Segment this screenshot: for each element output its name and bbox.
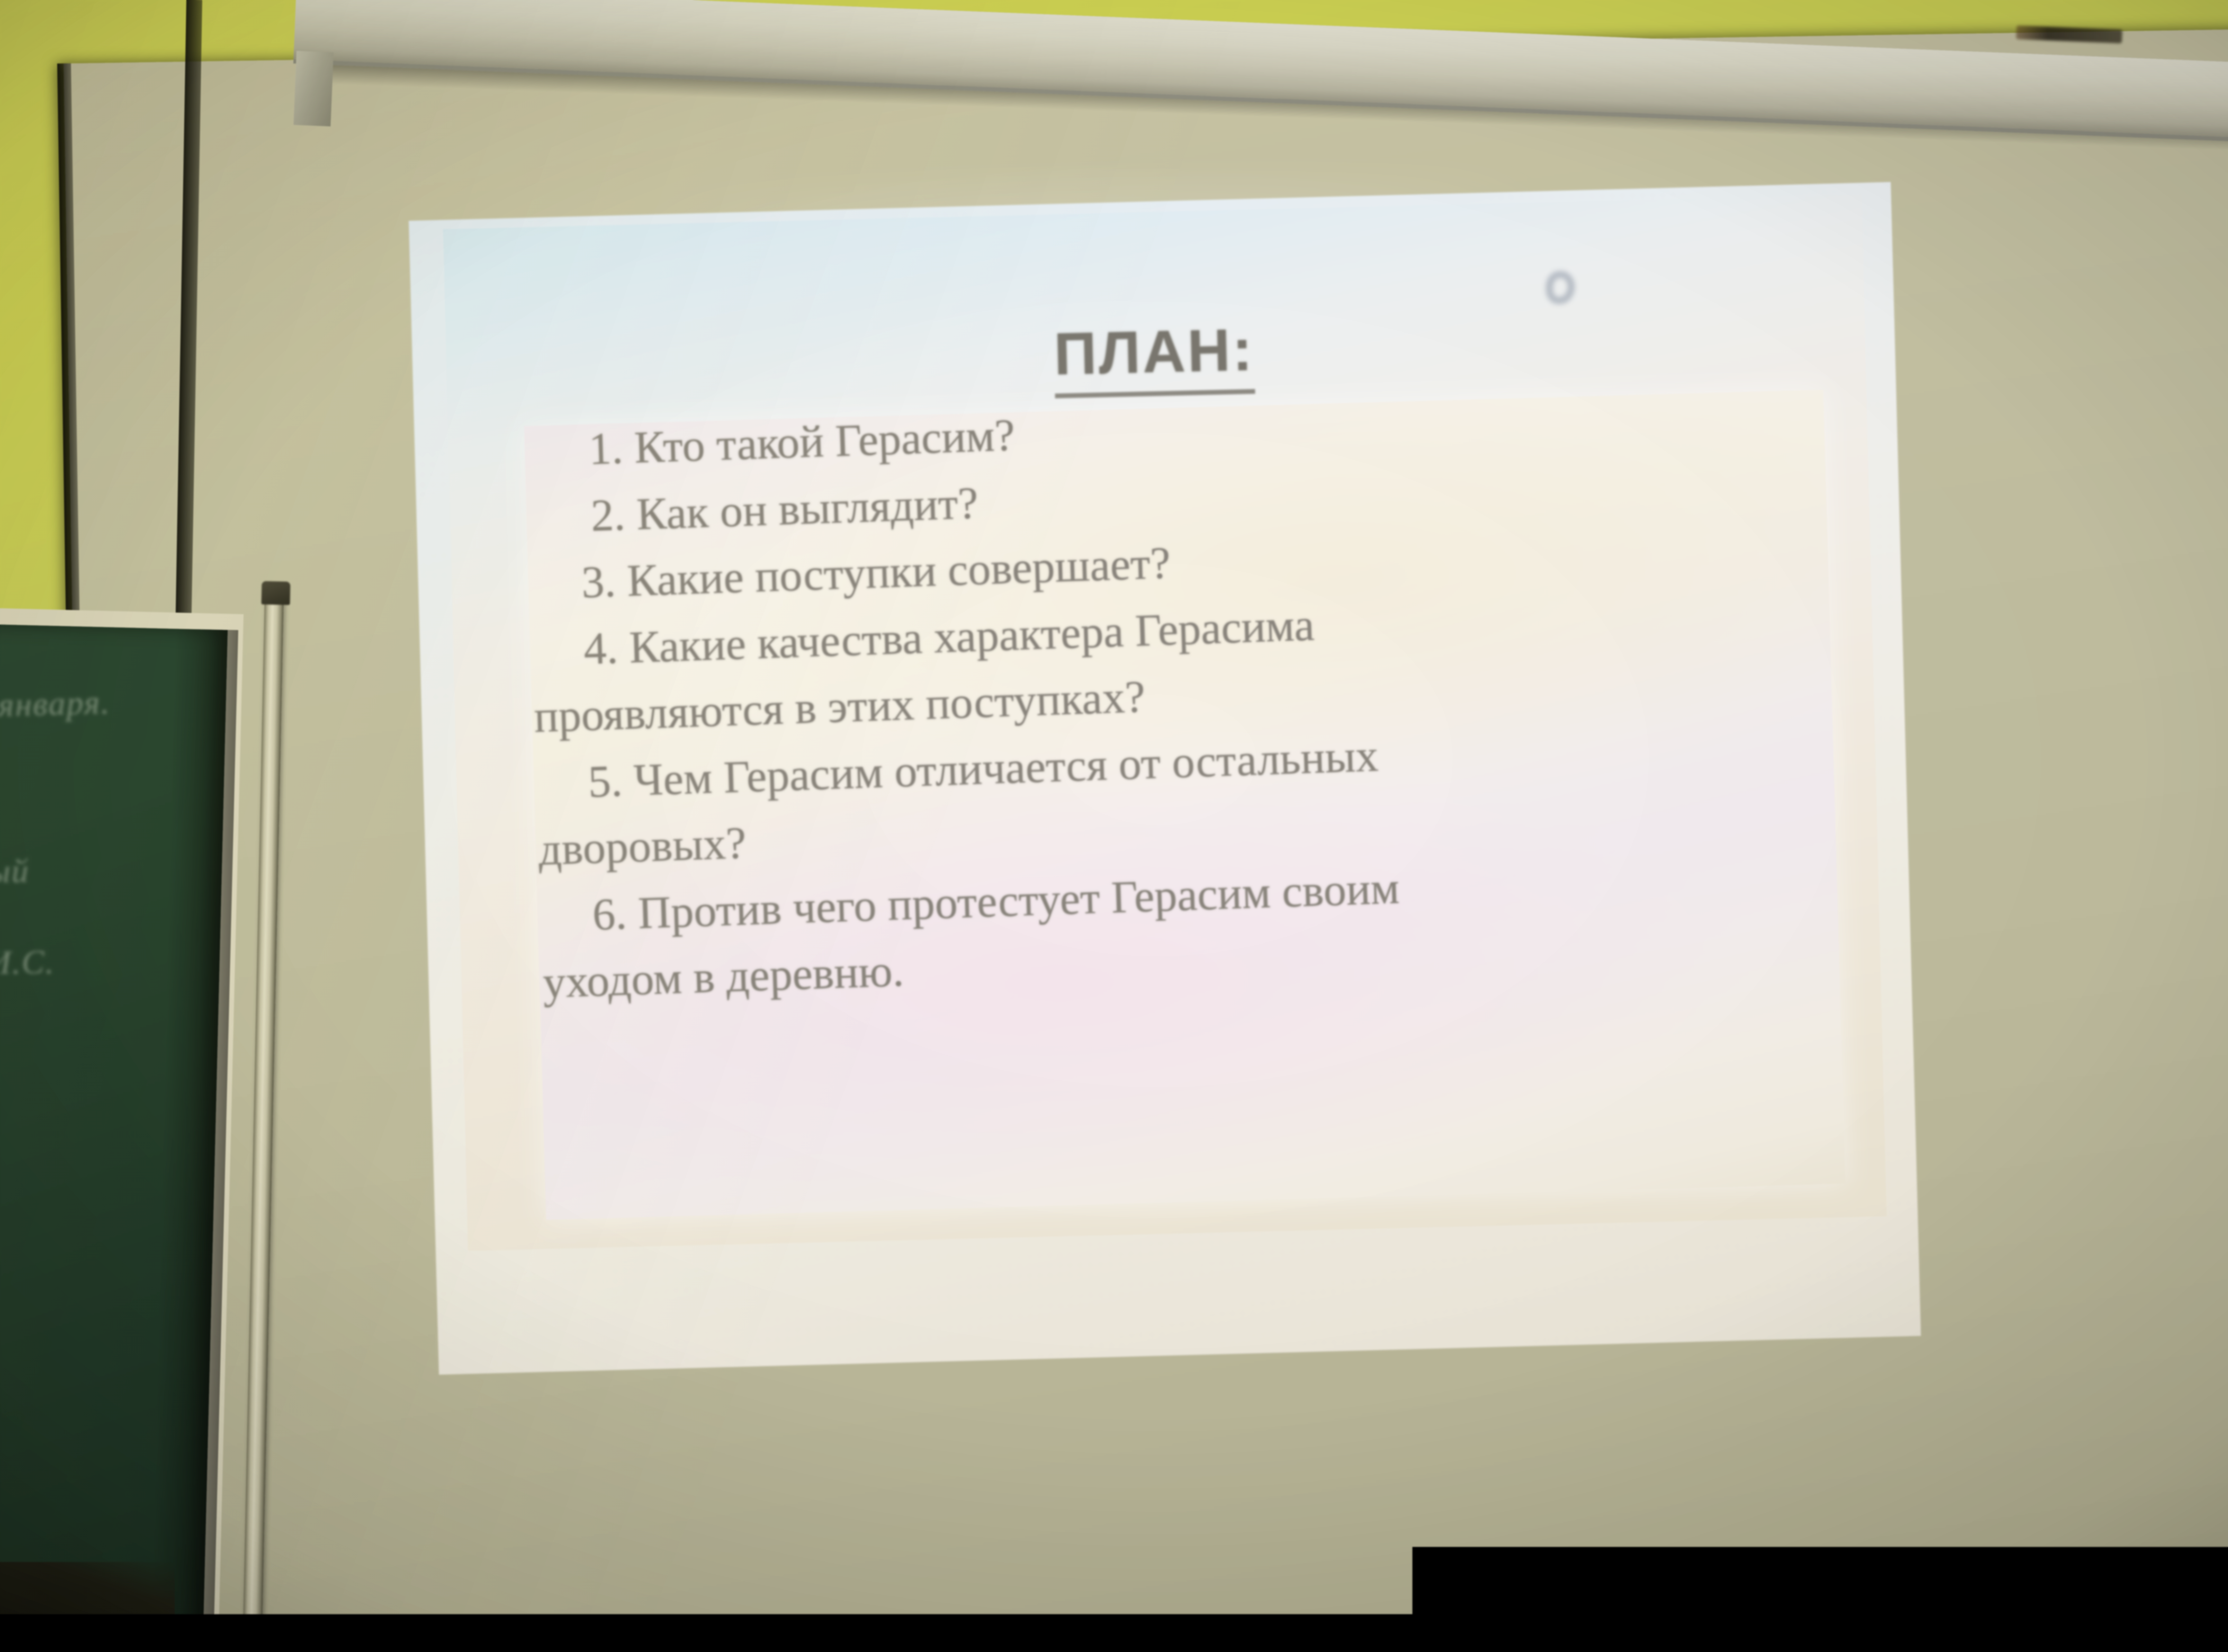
chalkboard-writing-line: января. [0,683,111,725]
chalkboard: января. ав авный И.С. му". [0,624,228,1652]
chalkboard-writing-line: И.С. [0,942,55,982]
classroom-scene: ПЛАН: 1. Кто такой Герасим? 2. Как он вы… [0,0,2228,1652]
chalkboard-writing-line: авный [0,851,30,892]
chalkboard-writing-line: му". [0,1036,1,1077]
slide-title: ПЛАН: [1053,316,1255,399]
pole-knob [262,581,291,605]
floor-edge-shadow [0,1562,175,1652]
mouse-pointer-ghost-icon [1546,271,1575,304]
roller-end-cap [293,51,334,127]
pointer-ring-shape [1546,271,1575,304]
plan-list: 1. Кто такой Герасим? 2. Как он выглядит… [519,373,1893,1016]
